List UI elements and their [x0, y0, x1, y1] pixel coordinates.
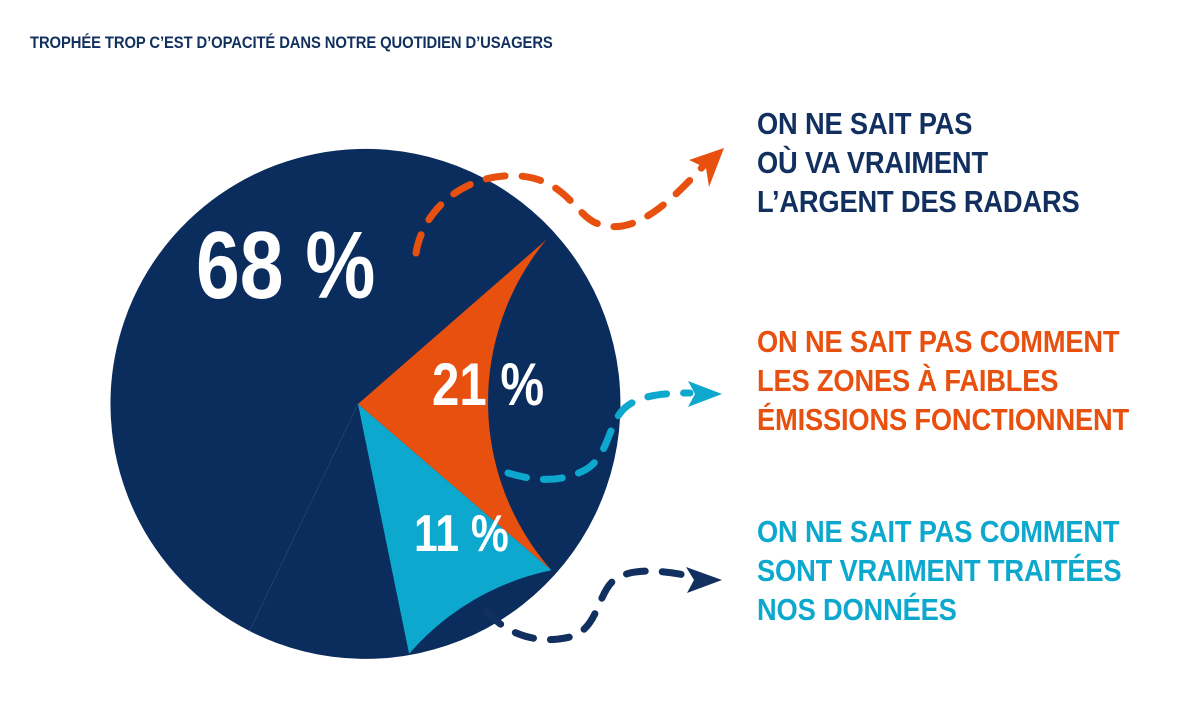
legend-item-line: SONT VRAIMENT TRAITÉES	[757, 551, 1109, 590]
pie-chart-svg	[0, 0, 740, 708]
legend-item-line: L’ARGENT DES RADARS	[757, 182, 1109, 221]
pie-label-68: 68 %	[196, 218, 375, 314]
legend-item-line: ON NE SAIT PAS COMMENT	[757, 322, 1109, 361]
legend-item-line: ÉMISSIONS FONCTIONNENT	[757, 400, 1109, 439]
pie-label-21: 21 %	[432, 355, 544, 415]
infographic-root: TROPHÉE TROP C’EST D’OPACITÉ DANS NOTRE …	[0, 0, 1181, 708]
pie-chart: 68 % 21 % 11 %	[0, 0, 740, 708]
pie-label-11: 11 %	[414, 508, 509, 560]
legend-item-line: LES ZONES À FAIBLES	[757, 361, 1109, 400]
legend-item-line: OÙ VA VRAIMENT	[757, 143, 1109, 182]
legend-item-line: ON NE SAIT PAS	[757, 104, 1109, 143]
legend-item-line: NOS DONNÉES	[757, 590, 1109, 629]
legend: ON NE SAIT PAS OÙ VA VRAIMENT L’ARGENT D…	[757, 0, 1177, 708]
legend-item-donnees[interactable]: ON NE SAIT PAS COMMENT SONT VRAIMENT TRA…	[757, 512, 1157, 629]
legend-item-zfe[interactable]: ON NE SAIT PAS COMMENT LES ZONES À FAIBL…	[757, 322, 1157, 439]
legend-item-line: ON NE SAIT PAS COMMENT	[757, 512, 1109, 551]
legend-item-radars[interactable]: ON NE SAIT PAS OÙ VA VRAIMENT L’ARGENT D…	[757, 104, 1157, 221]
